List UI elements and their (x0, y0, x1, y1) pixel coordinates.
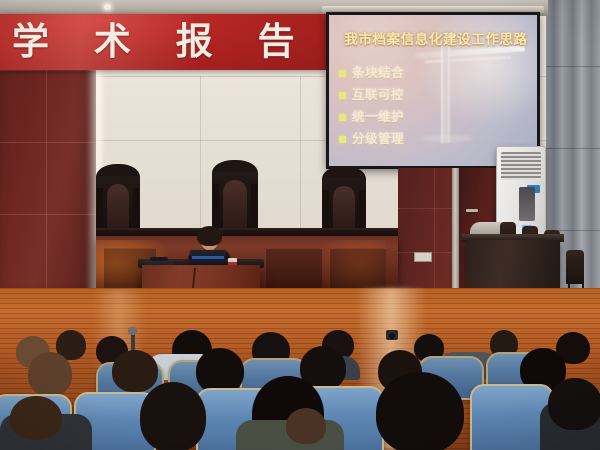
microphone-icon (128, 327, 137, 335)
auditorium-photo: 学 术 报 告 我市档案信息化建设工作思路 条块结合 互联可控 (0, 0, 600, 450)
audience-head (10, 396, 62, 440)
bullet-square-icon (339, 92, 346, 99)
bullet-square-icon (339, 136, 346, 143)
slide-bullet-list: 条块结合 互联可控 统一维护 分级管理 (339, 62, 489, 150)
wall-seam (200, 76, 201, 230)
stage-chair (212, 160, 258, 234)
door-jamb (452, 168, 459, 290)
wall-seam (300, 76, 301, 230)
slide-bullet-item: 统一维护 (339, 106, 489, 128)
chair-inset-panel (223, 180, 247, 228)
camera-lens-icon (389, 333, 395, 339)
slide-title: 我市档案信息化建设工作思路 (339, 33, 533, 48)
speaker-hair (197, 226, 222, 246)
event-banner: 学 术 报 告 (0, 14, 326, 70)
chair-inset-panel (107, 184, 130, 228)
ceiling-light-icon (104, 4, 111, 10)
bullet-square-icon (339, 114, 346, 121)
stage-panel (330, 248, 386, 289)
laptop-screen-glow (192, 256, 224, 259)
banner-title: 学 术 报 告 (12, 20, 326, 64)
slide-bullet-label: 统一维护 (352, 110, 404, 124)
chair-right-post (251, 184, 257, 234)
door-handle-icon[interactable] (466, 209, 478, 212)
slide-bullet-item: 互联可控 (339, 84, 489, 106)
audience-head (548, 378, 600, 430)
audience-head (112, 350, 158, 392)
stage-chair (96, 164, 140, 234)
bag-strap (150, 257, 168, 261)
side-table (466, 240, 560, 292)
projector-screen: 我市档案信息化建设工作思路 条块结合 互联可控 统一维护 分级管理 (329, 15, 537, 166)
slide-bullet-label: 互联可控 (352, 88, 404, 102)
air-conditioner-grille-icon (501, 152, 541, 180)
air-conditioner-display-panel[interactable] (519, 187, 535, 221)
audience-head (140, 382, 206, 450)
stage-chair (322, 166, 366, 234)
audience-head (28, 352, 72, 396)
stage-panel (266, 248, 322, 289)
chair-inset-panel (333, 186, 356, 228)
slide-bullet-label: 分级管理 (352, 132, 404, 146)
slide-bullet-item: 分级管理 (339, 128, 489, 150)
slide-bullet-item: 条块结合 (339, 62, 489, 84)
side-chair (566, 250, 584, 284)
audience-head (376, 372, 464, 450)
wall-switch-plate[interactable] (414, 252, 432, 262)
audience-head (286, 408, 326, 444)
slide-bullet-label: 条块结合 (352, 66, 404, 80)
bullet-square-icon (339, 70, 346, 77)
